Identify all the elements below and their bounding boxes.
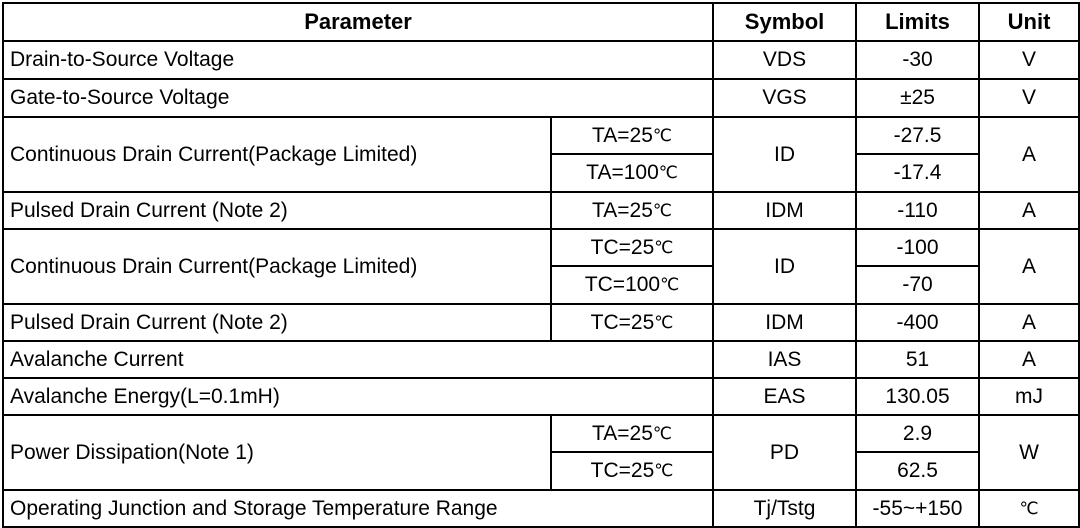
row-unit: mJ [979, 378, 1079, 415]
column-header-unit: Unit [979, 3, 1079, 41]
row-condition: TA=100℃ [551, 154, 713, 192]
row-condition: TC=25℃ [551, 452, 713, 490]
table-row: Continuous Drain Current(Package Limited… [3, 229, 1079, 266]
row-symbol: PD [713, 415, 856, 490]
row-unit: A [979, 192, 1079, 229]
row-limit: 2.9 [856, 415, 979, 452]
table-row: Pulsed Drain Current (Note 2) TA=25℃ IDM… [3, 192, 1079, 229]
row-limit: -110 [856, 192, 979, 229]
row-unit: V [979, 79, 1079, 117]
row-limit: -70 [856, 266, 979, 304]
row-parameter: Power Dissipation(Note 1) [3, 415, 551, 490]
row-unit: V [979, 41, 1079, 79]
table-header-row: Parameter Symbol Limits Unit [3, 3, 1079, 41]
table-row: Power Dissipation(Note 1) TA=25℃ PD 2.9 … [3, 415, 1079, 452]
row-symbol: ID [713, 117, 856, 192]
row-symbol: EAS [713, 378, 856, 415]
table-row: Continuous Drain Current(Package Limited… [3, 117, 1079, 154]
row-unit: A [979, 229, 1079, 304]
row-symbol: IAS [713, 341, 856, 378]
row-limit: -27.5 [856, 117, 979, 154]
row-limit: -55~+150 [856, 490, 979, 527]
row-parameter: Operating Junction and Storage Temperatu… [3, 490, 713, 527]
table-row: Operating Junction and Storage Temperatu… [3, 490, 1079, 527]
row-symbol: IDM [713, 304, 856, 341]
row-limit: ±25 [856, 79, 979, 117]
row-limit: -17.4 [856, 154, 979, 192]
row-condition: TA=25℃ [551, 415, 713, 452]
row-parameter: Gate-to-Source Voltage [3, 79, 713, 117]
row-condition: TC=25℃ [551, 229, 713, 266]
row-condition: TA=25℃ [551, 192, 713, 229]
column-header-parameter: Parameter [3, 3, 713, 41]
row-unit: A [979, 341, 1079, 378]
row-condition: TA=25℃ [551, 117, 713, 154]
table-row: Gate-to-Source Voltage VGS ±25 V [3, 79, 1079, 117]
absolute-maximum-ratings-table: Parameter Symbol Limits Unit Drain-to-So… [2, 2, 1080, 528]
row-parameter: Pulsed Drain Current (Note 2) [3, 192, 551, 229]
table-row: Pulsed Drain Current (Note 2) TC=25℃ IDM… [3, 304, 1079, 341]
row-parameter: Continuous Drain Current(Package Limited… [3, 117, 551, 192]
row-unit: A [979, 117, 1079, 192]
absolute-maximum-ratings-sheet: Parameter Symbol Limits Unit Drain-to-So… [0, 2, 1080, 528]
row-parameter: Continuous Drain Current(Package Limited… [3, 229, 551, 304]
column-header-symbol: Symbol [713, 3, 856, 41]
row-symbol: VGS [713, 79, 856, 117]
row-limit: -30 [856, 41, 979, 79]
row-condition: TC=100℃ [551, 266, 713, 304]
row-limit: -400 [856, 304, 979, 341]
row-condition: TC=25℃ [551, 304, 713, 341]
row-unit: ℃ [979, 490, 1079, 527]
table-row: Avalanche Energy(L=0.1mH) EAS 130.05 mJ [3, 378, 1079, 415]
row-symbol: Tj/Tstg [713, 490, 856, 527]
row-symbol: IDM [713, 192, 856, 229]
row-parameter: Drain-to-Source Voltage [3, 41, 713, 79]
row-limit: 51 [856, 341, 979, 378]
row-unit: A [979, 304, 1079, 341]
row-parameter: Avalanche Energy(L=0.1mH) [3, 378, 713, 415]
row-limit: 62.5 [856, 452, 979, 490]
row-parameter: Avalanche Current [3, 341, 713, 378]
row-symbol: ID [713, 229, 856, 304]
row-limit: -100 [856, 229, 979, 266]
row-limit: 130.05 [856, 378, 979, 415]
table-row: Drain-to-Source Voltage VDS -30 V [3, 41, 1079, 79]
column-header-limits: Limits [856, 3, 979, 41]
table-row: Avalanche Current IAS 51 A [3, 341, 1079, 378]
row-symbol: VDS [713, 41, 856, 79]
row-parameter: Pulsed Drain Current (Note 2) [3, 304, 551, 341]
row-unit: W [979, 415, 1079, 490]
